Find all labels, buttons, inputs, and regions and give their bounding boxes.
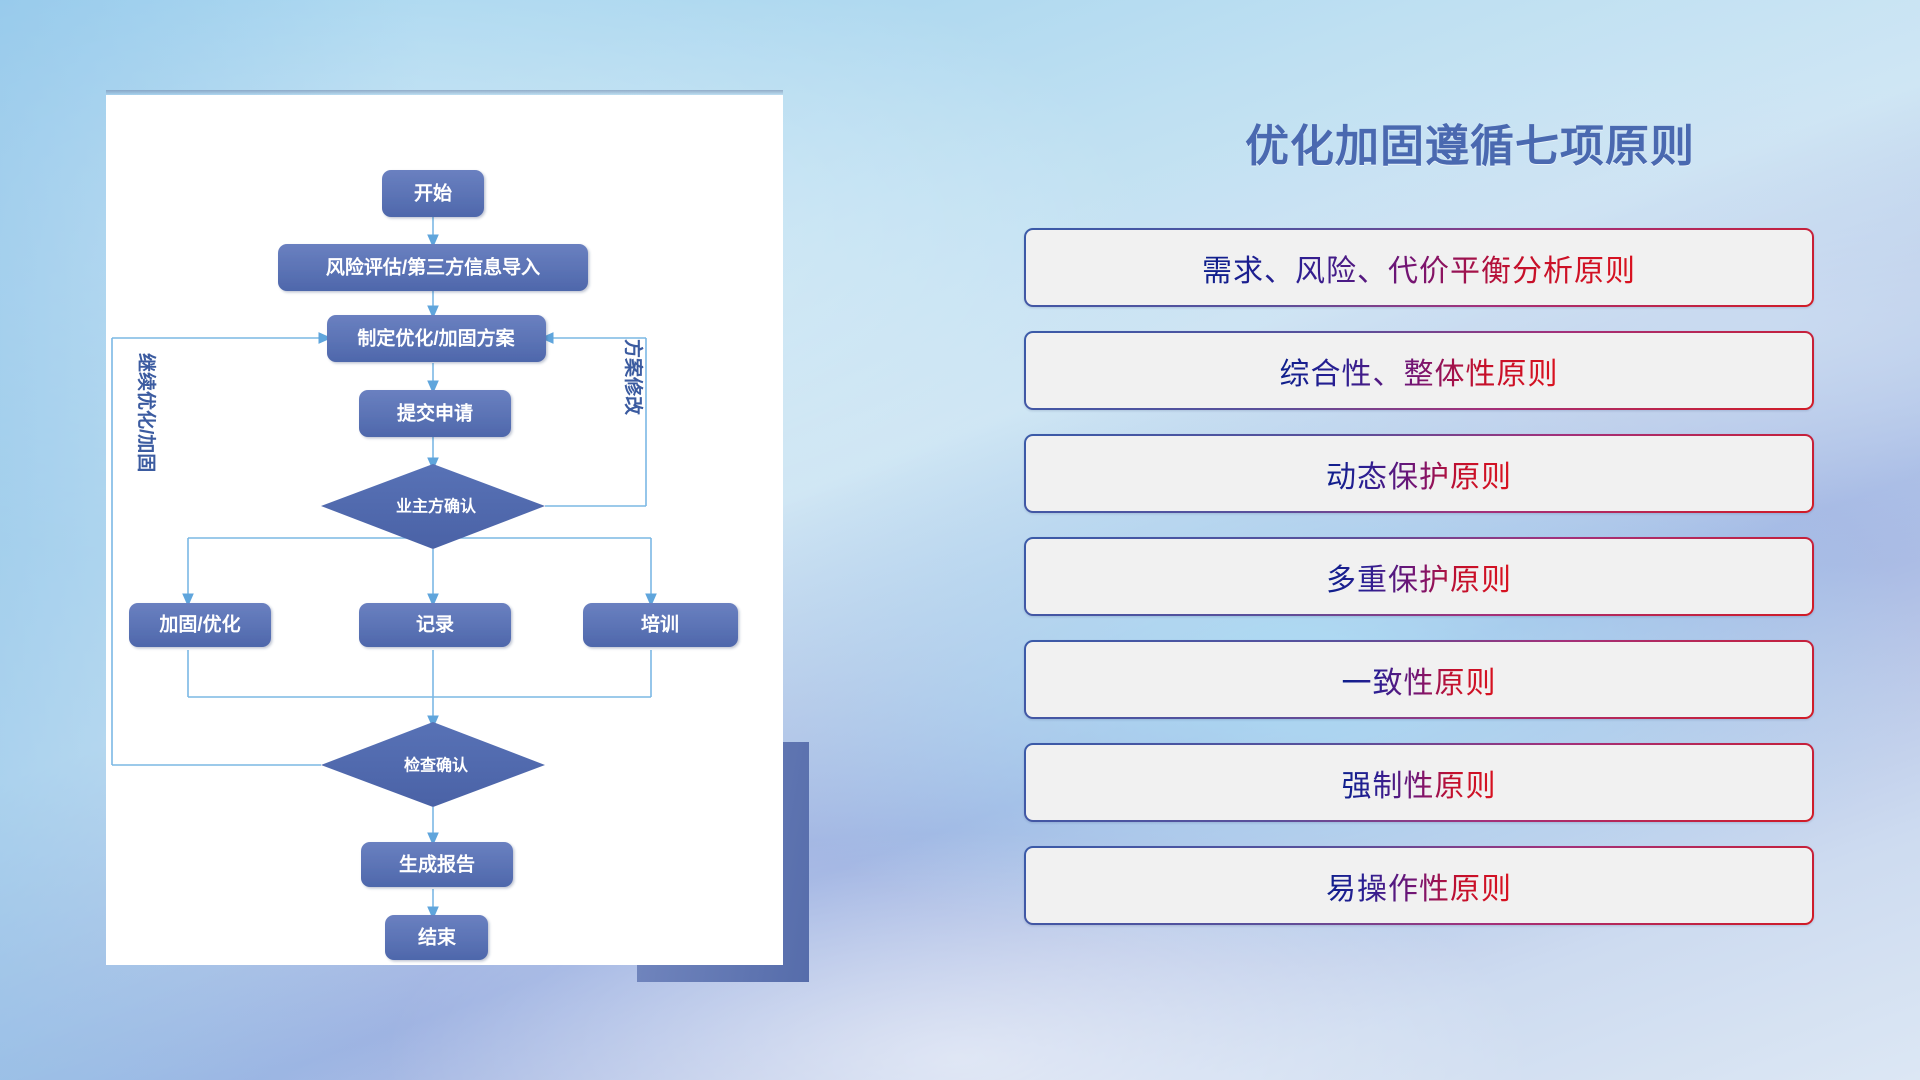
flow-node-end[interactable]: 结束 xyxy=(385,915,488,960)
flow-node-start[interactable]: 开始 xyxy=(382,170,484,217)
flow-node-submit-application[interactable]: 提交申请 xyxy=(359,390,511,437)
flow-node-training-label: 培训 xyxy=(641,613,679,636)
flowchart-card: 开始 风险评估/第三方信息导入 制定优化/加固方案 提交申请 业主方确认 加固/… xyxy=(106,95,783,965)
principle-card-2-inner: 综合性、整体性原则 xyxy=(1026,333,1812,408)
flow-node-record-label: 记录 xyxy=(416,614,454,636)
flow-node-make-plan[interactable]: 制定优化/加固方案 xyxy=(327,315,546,362)
principle-card-5[interactable]: 一致性原则 xyxy=(1024,640,1814,719)
principle-card-1-label: 需求、风险、代价平衡分析原则 xyxy=(1202,246,1636,290)
principle-card-1-inner: 需求、风险、代价平衡分析原则 xyxy=(1026,230,1812,305)
flowchart-diagram: 开始 风险评估/第三方信息导入 制定优化/加固方案 提交申请 业主方确认 加固/… xyxy=(106,95,783,965)
principle-card-6[interactable]: 强制性原则 xyxy=(1024,743,1814,822)
flow-node-owner-confirm[interactable]: 业主方确认 xyxy=(321,464,545,549)
flow-node-check-confirm-label: 检查确认 xyxy=(404,756,469,775)
flow-node-reinforce-optimize-label: 加固/优化 xyxy=(158,613,240,636)
principle-card-7-inner: 易操作性原则 xyxy=(1026,848,1812,923)
principle-card-6-inner: 强制性原则 xyxy=(1026,745,1812,820)
flow-node-reinforce-optimize[interactable]: 加固/优化 xyxy=(129,603,271,647)
flow-node-owner-confirm-label: 业主方确认 xyxy=(396,497,477,516)
principles-card-list: 需求、风险、代价平衡分析原则 综合性、整体性原则 动态保护原则 多重保护原则 一… xyxy=(1024,228,1814,949)
flow-node-end-label: 结束 xyxy=(418,926,457,949)
flow-node-start-label: 开始 xyxy=(414,182,452,205)
flow-node-record[interactable]: 记录 xyxy=(359,603,511,647)
flow-node-check-confirm[interactable]: 检查确认 xyxy=(321,722,545,807)
principle-card-4[interactable]: 多重保护原则 xyxy=(1024,537,1814,616)
panel-title: 优化加固遵循七项原则 xyxy=(1020,110,1920,174)
flow-node-risk-assessment-label: 风险评估/第三方信息导入 xyxy=(326,256,540,279)
flow-node-generate-report-label: 生成报告 xyxy=(399,853,475,876)
principle-card-5-inner: 一致性原则 xyxy=(1026,642,1812,717)
principles-panel: 优化加固遵循七项原则 需求、风险、代价平衡分析原则 综合性、整体性原则 动态保护… xyxy=(1020,0,1920,1080)
principle-card-4-inner: 多重保护原则 xyxy=(1026,539,1812,614)
principle-card-5-label: 一致性原则 xyxy=(1342,658,1497,702)
principle-card-7[interactable]: 易操作性原则 xyxy=(1024,846,1814,925)
principle-card-6-label: 强制性原则 xyxy=(1342,761,1497,805)
flow-node-risk-assessment[interactable]: 风险评估/第三方信息导入 xyxy=(278,244,588,291)
flow-node-submit-application-label: 提交申请 xyxy=(397,402,473,425)
principle-card-7-label: 易操作性原则 xyxy=(1326,864,1512,908)
flow-edge-label-plan-revision: 方案修改 xyxy=(622,339,645,416)
principle-card-1[interactable]: 需求、风险、代价平衡分析原则 xyxy=(1024,228,1814,307)
flow-edge-label-continue-optimize: 继续优化/加固 xyxy=(135,353,158,472)
principle-card-4-label: 多重保护原则 xyxy=(1326,555,1512,599)
principle-card-3-inner: 动态保护原则 xyxy=(1026,436,1812,511)
principle-card-3-label: 动态保护原则 xyxy=(1326,452,1512,496)
principle-card-2-label: 综合性、整体性原则 xyxy=(1280,349,1559,393)
flow-node-make-plan-label: 制定优化/加固方案 xyxy=(357,327,515,350)
principle-card-3[interactable]: 动态保护原则 xyxy=(1024,434,1814,513)
flow-node-generate-report[interactable]: 生成报告 xyxy=(361,842,513,887)
principle-card-2[interactable]: 综合性、整体性原则 xyxy=(1024,331,1814,410)
flow-node-training[interactable]: 培训 xyxy=(583,603,738,647)
